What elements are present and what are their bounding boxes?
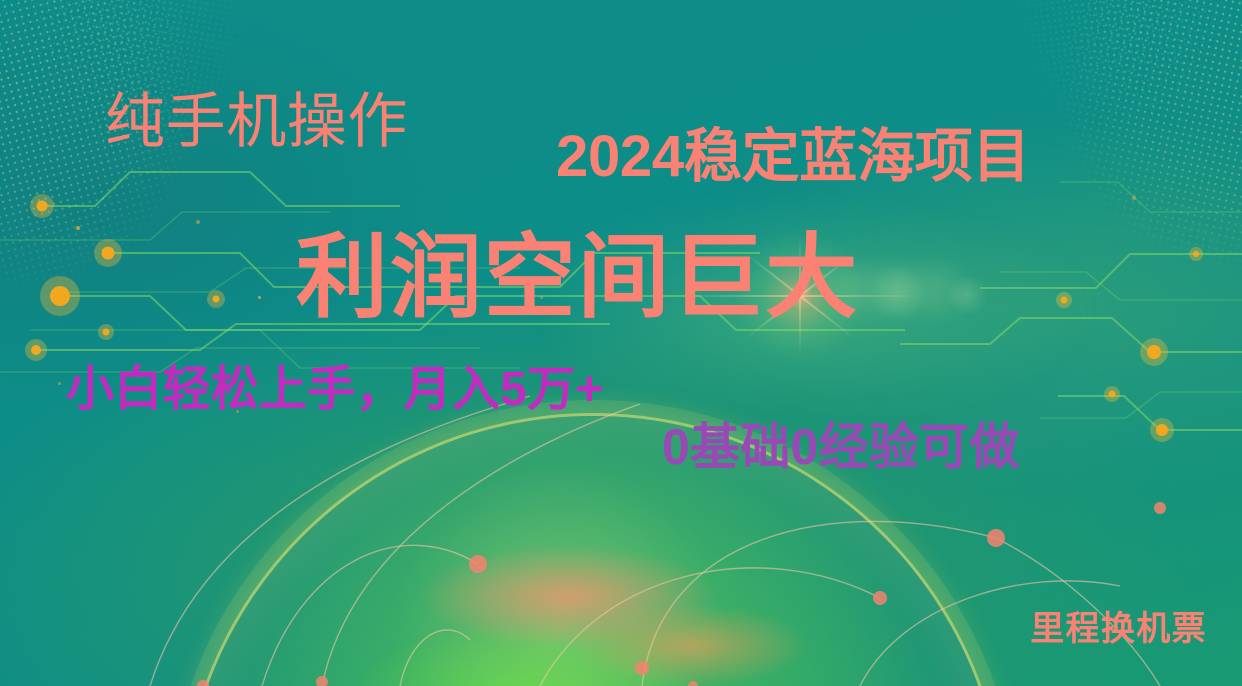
headline-profit: 利润空间巨大 [296, 232, 859, 324]
sparkle-dot [258, 296, 261, 299]
subheadline-zero-experience: 0基础0经验可做 [662, 422, 1020, 472]
halftone-wave-topleft-2-icon [0, 0, 337, 346]
sparkle-dot [1132, 196, 1136, 200]
headline-year-project: 2024稳定蓝海项目 [556, 128, 1030, 186]
lens-flare-ghost [866, 268, 930, 318]
subheadline-newbie-income: 小白轻松上手，月入5万+ [66, 366, 604, 414]
lens-flare-ghost [944, 276, 990, 314]
sparkle-dot [58, 382, 61, 385]
sparkle-dot [196, 220, 200, 224]
headline-pure-phone: 纯手机操作 [105, 92, 408, 152]
sparkle-dot [76, 226, 80, 230]
promo-banner: 纯手机操作 2024稳定蓝海项目 利润空间巨大 小白轻松上手，月入5万+ 0基础… [0, 0, 1242, 686]
watermark-brand: 里程换机票 [1030, 612, 1207, 646]
